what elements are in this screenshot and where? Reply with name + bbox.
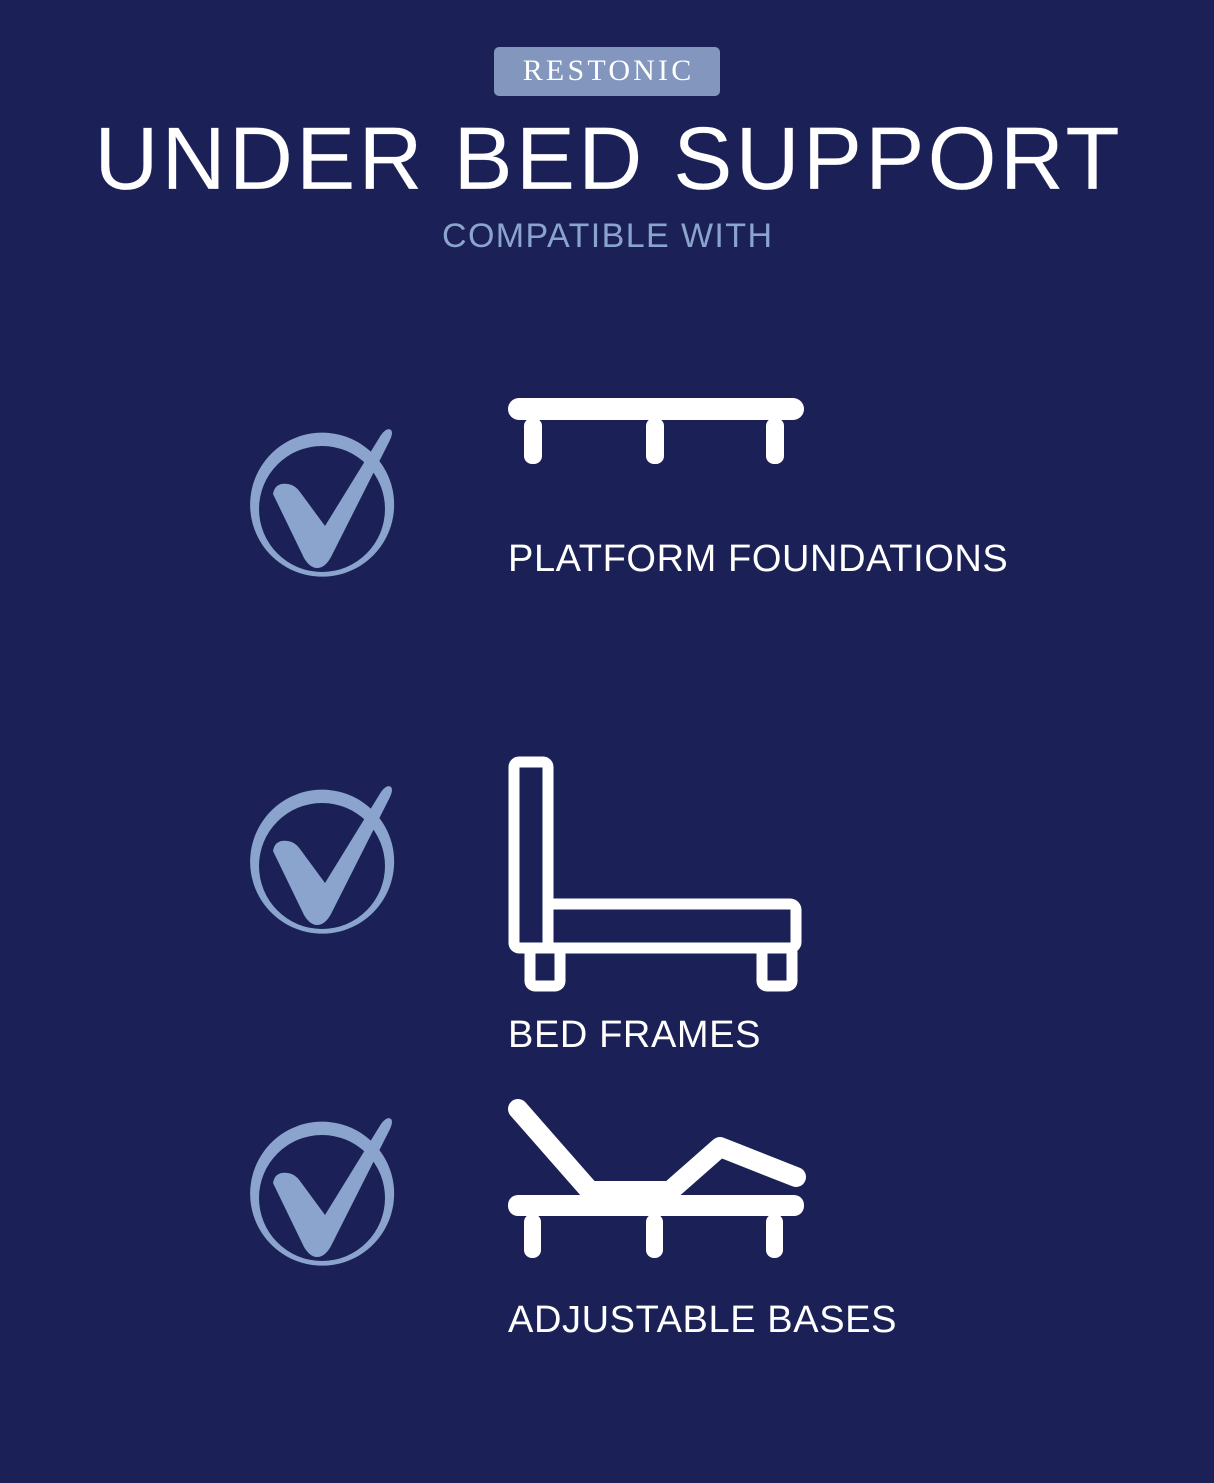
feature-body: ADJUSTABLE BASES bbox=[508, 1094, 1168, 1339]
feature-label: BED FRAMES bbox=[508, 1016, 1168, 1054]
feature-row: PLATFORM FOUNDATIONS bbox=[0, 398, 1214, 746]
feature-row: ADJUSTABLE BASES bbox=[0, 1094, 1214, 1442]
feature-body: PLATFORM FOUNDATIONS bbox=[508, 398, 1168, 578]
restonic-logo-text: RESTONIC bbox=[520, 56, 695, 86]
page-subtitle: COMPATIBLE WITH bbox=[0, 219, 1214, 253]
check-circle-icon bbox=[235, 779, 410, 954]
header: RESTONIC UNDER BED SUPPORT COMPATIBLE WI… bbox=[0, 0, 1214, 253]
platform-foundation-icon bbox=[508, 398, 1168, 498]
feature-list: PLATFORM FOUNDATIONS bbox=[0, 398, 1214, 1442]
adjustable-base-icon bbox=[508, 1094, 1168, 1259]
feature-body: BED FRAMES bbox=[508, 746, 1168, 1054]
restonic-logo-badge: RESTONIC bbox=[494, 47, 721, 96]
feature-label: PLATFORM FOUNDATIONS bbox=[508, 540, 1168, 578]
feature-label: ADJUSTABLE BASES bbox=[508, 1301, 1168, 1339]
bed-frame-icon bbox=[508, 746, 1168, 986]
check-circle-icon bbox=[235, 1111, 410, 1286]
page-title: UNDER BED SUPPORT bbox=[0, 112, 1214, 205]
check-circle-icon bbox=[235, 422, 410, 597]
feature-row: BED FRAMES bbox=[0, 746, 1214, 1094]
